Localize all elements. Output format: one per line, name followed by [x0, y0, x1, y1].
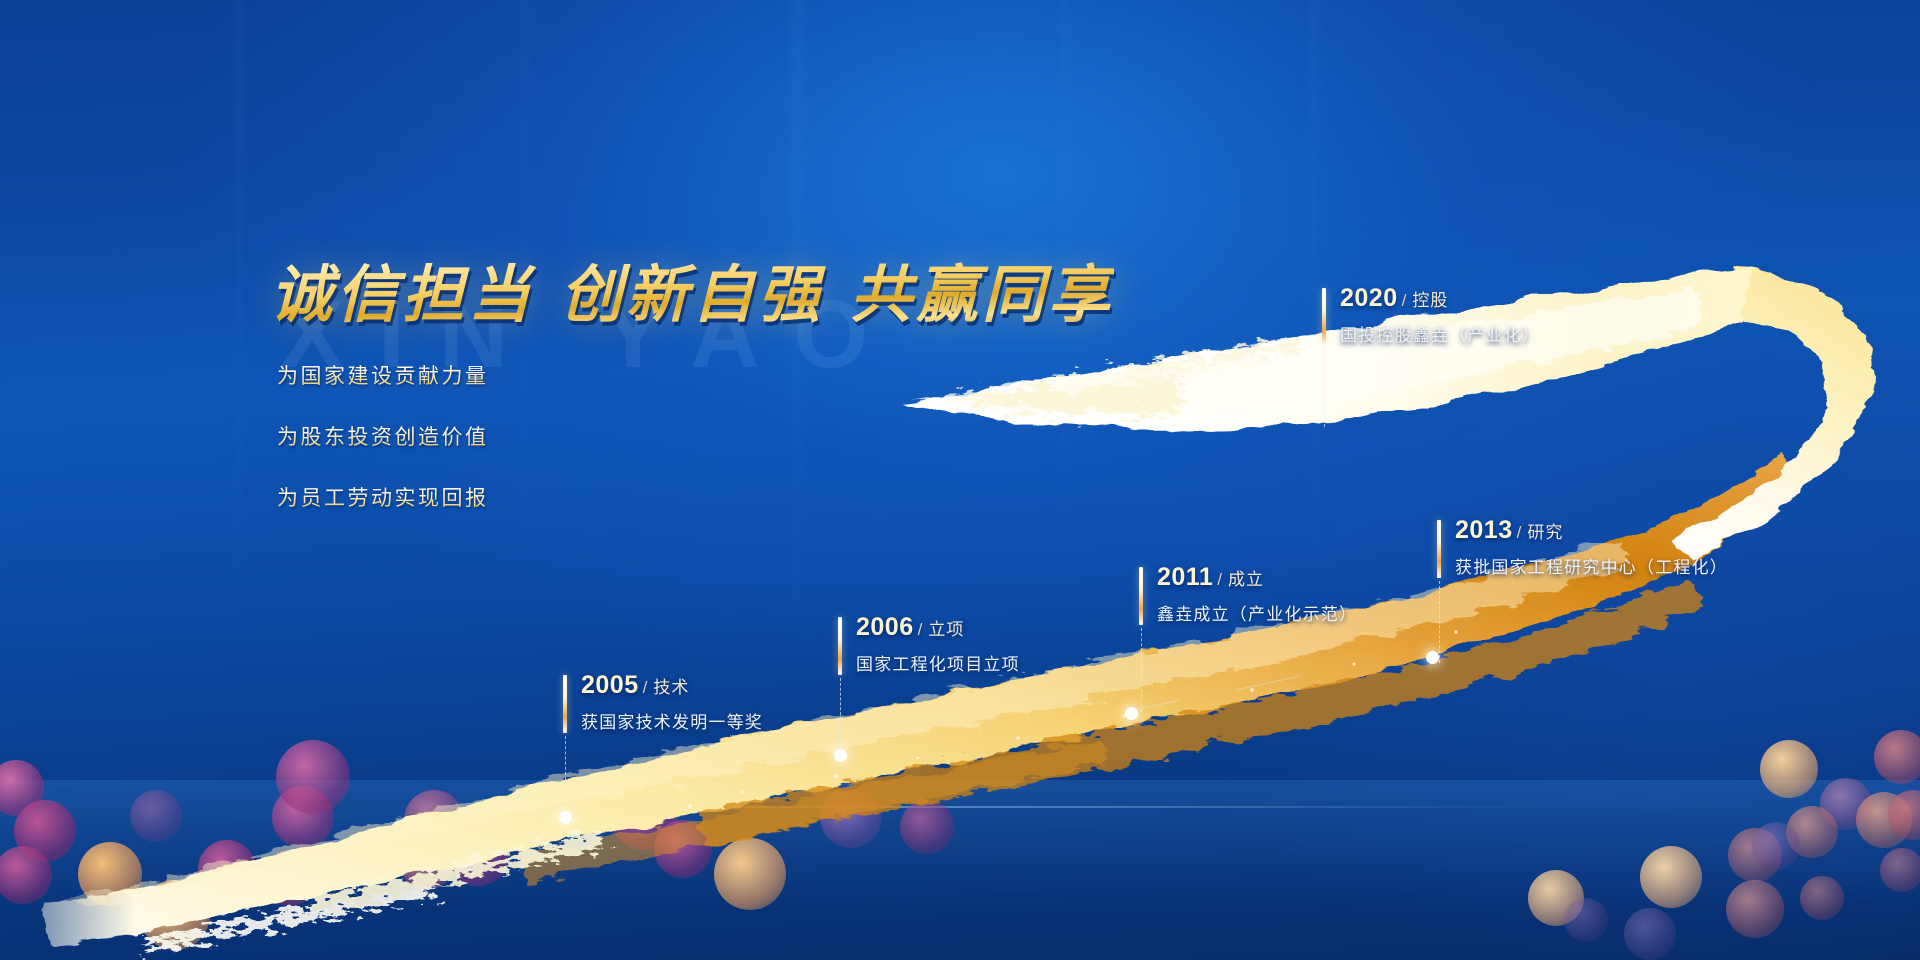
- slogan-item: 为股东投资创造价值: [277, 421, 489, 451]
- bokeh-circle: [1786, 806, 1838, 858]
- milestone-description: 获批国家工程研究中心（工程化）: [1455, 553, 1728, 578]
- bokeh-circle: [262, 850, 318, 906]
- bokeh-circle: [1624, 908, 1676, 960]
- milestone-accent-bar: [563, 675, 567, 733]
- milestone-description: 鑫垚成立（产业化示范）: [1157, 600, 1357, 625]
- milestone-separator: /: [1517, 523, 1523, 542]
- bokeh-circle: [0, 846, 52, 904]
- milestone-accent-bar: [1322, 288, 1326, 346]
- milestone-year-value: 2020: [1340, 284, 1398, 312]
- bokeh-circle: [1820, 778, 1872, 830]
- milestone-year-value: 2005: [581, 671, 639, 699]
- bokeh-circle: [1728, 828, 1782, 882]
- headline-block: XIN YAO 诚信担当创新自强共赢同享: [270, 244, 1114, 334]
- milestone-dot[interactable]: [1125, 707, 1138, 720]
- slogan-item: 为员工劳动实现回报: [277, 482, 489, 512]
- milestone-leader-line: [1141, 628, 1142, 712]
- milestone-category: 立项: [928, 620, 964, 639]
- bokeh-circle: [610, 782, 678, 850]
- bokeh-circle: [820, 786, 882, 848]
- bokeh-circle: [654, 820, 712, 878]
- horizon-glow-band: [0, 780, 1920, 910]
- milestone-description: 国家工程化项目立项: [856, 650, 1020, 675]
- bokeh-circle: [1564, 898, 1608, 942]
- bokeh-circle: [78, 842, 142, 906]
- milestone-category: 研究: [1527, 523, 1563, 542]
- bokeh-circle: [272, 786, 334, 848]
- milestone-year-value: 2013: [1455, 516, 1513, 544]
- bokeh-circle: [404, 790, 464, 850]
- milestone-leader-line: [1439, 581, 1440, 663]
- bokeh-circle: [714, 838, 786, 910]
- milestone-year: 2020/控股: [1340, 284, 1448, 313]
- milestone-year: 2011/成立: [1157, 563, 1264, 592]
- milestone-accent-bar: [838, 617, 842, 675]
- bokeh-circle: [1760, 740, 1818, 798]
- milestone-category: 技术: [653, 678, 689, 697]
- milestone-leader-line: [840, 678, 841, 754]
- bokeh-circle: [1880, 848, 1920, 892]
- milestone-dot[interactable]: [1426, 651, 1439, 664]
- bokeh-circle: [1856, 792, 1912, 848]
- bokeh-circle: [14, 800, 76, 862]
- bokeh-circle: [0, 760, 44, 816]
- milestone-year: 2013/研究: [1455, 516, 1563, 545]
- bokeh-circle: [400, 836, 454, 890]
- bokeh-circle: [1640, 846, 1702, 908]
- bokeh-circle: [1752, 822, 1800, 870]
- milestone-accent-bar: [1139, 567, 1143, 625]
- milestone-separator: /: [918, 620, 924, 639]
- headline-part-1: 诚信担当: [270, 258, 534, 331]
- milestone-dot[interactable]: [559, 811, 572, 824]
- milestone-description: 获国家技术发明一等奖: [581, 708, 763, 733]
- headline-part-3: 共赢同享: [850, 258, 1114, 331]
- milestone-year: 2005/技术: [581, 671, 689, 700]
- milestone-separator: /: [1402, 291, 1408, 310]
- bokeh-circle: [1888, 790, 1920, 840]
- milestone-year-value: 2006: [856, 613, 914, 641]
- bokeh-circle: [198, 840, 256, 898]
- slogan-list: 为国家建设贡献力量 为股东投资创造价值 为员工劳动实现回报: [277, 360, 489, 543]
- bokeh-circle: [1800, 876, 1844, 920]
- bokeh-circle: [140, 880, 210, 950]
- bokeh-circle: [1726, 880, 1784, 938]
- horizon-light-line: [380, 806, 1540, 808]
- slogan-item: 为国家建设贡献力量: [277, 360, 489, 390]
- milestone-description: 国投控股鑫垚（产业化）: [1340, 321, 1540, 346]
- bokeh-circle: [1874, 730, 1920, 784]
- milestone-leader-line: [565, 736, 566, 816]
- milestone-leader-line: [1324, 349, 1325, 427]
- bokeh-circle: [900, 800, 954, 854]
- milestone-separator: /: [643, 678, 649, 697]
- milestone-dot[interactable]: [834, 749, 847, 762]
- bokeh-circle: [276, 740, 350, 814]
- page-title: 诚信担当创新自强共赢同享: [270, 244, 1114, 334]
- milestone-year: 2006/立项: [856, 613, 964, 642]
- milestone-year-value: 2011: [1157, 563, 1213, 591]
- milestone-category: 控股: [1412, 291, 1448, 310]
- bokeh-circle: [1528, 870, 1584, 926]
- bokeh-circle: [130, 790, 182, 842]
- milestone-separator: /: [1217, 570, 1223, 589]
- headline-part-2: 创新自强: [560, 258, 824, 331]
- milestone-accent-bar: [1437, 520, 1441, 578]
- milestone-category: 成立: [1228, 570, 1264, 589]
- poster-canvas: XIN YAO 诚信担当创新自强共赢同享 为国家建设贡献力量 为股东投资创造价值…: [0, 0, 1920, 960]
- bokeh-circle: [446, 822, 510, 886]
